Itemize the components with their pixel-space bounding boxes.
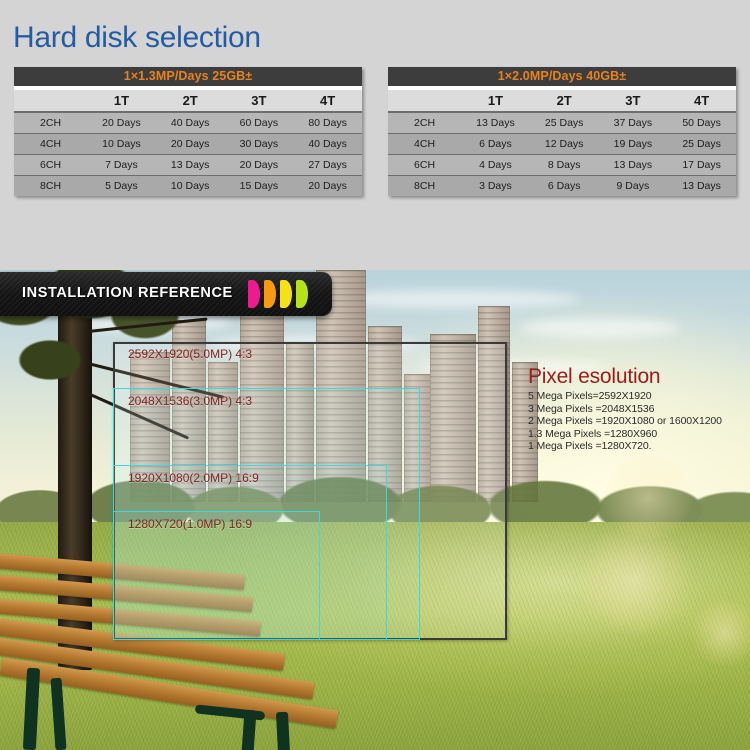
- chevron-icon: [280, 280, 292, 308]
- cell-3t: 15 Days: [225, 175, 294, 196]
- cell-3t: 37 Days: [599, 112, 668, 133]
- column-header-3t: 3T: [225, 90, 294, 112]
- frame-label-1mp: 1280X720(1.0MP) 16:9: [128, 517, 252, 531]
- table-corner-cell: [388, 90, 461, 112]
- cell-1t: 20 Days: [87, 112, 156, 133]
- frame-label-2mp: 1920X1080(2.0MP) 16:9: [128, 471, 259, 485]
- table-caption: 1×2.0MP/Days 40GB±: [388, 67, 736, 86]
- row-channel-label: 2CH: [14, 112, 87, 133]
- cell-3t: 60 Days: [225, 112, 294, 133]
- table-row: 4CH 6 Days 12 Days 19 Days 25 Days: [388, 133, 736, 154]
- cell-4t: 50 Days: [667, 112, 736, 133]
- column-header-1t: 1T: [461, 90, 530, 112]
- disk-capacity-table-1.3mp: 1×1.3MP/Days 25GB± 1T 2T 3T 4T 2CH 20 Da…: [14, 67, 362, 196]
- table-row: 6CH 7 Days 13 Days 20 Days 27 Days: [14, 154, 362, 175]
- cell-2t: 25 Days: [530, 112, 599, 133]
- installation-reference-photo: 2592X1920(5.0MP) 4:3 2048X1536(3.0MP) 4:…: [0, 270, 750, 750]
- chevron-icon: [264, 280, 276, 308]
- frame-label-5mp: 2592X1920(5.0MP) 4:3: [128, 347, 252, 361]
- table-row: 6CH 4 Days 8 Days 13 Days 17 Days: [388, 154, 736, 175]
- resolution-frames-overlay: 2592X1920(5.0MP) 4:3 2048X1536(3.0MP) 4:…: [0, 270, 750, 750]
- row-channel-label: 8CH: [388, 175, 461, 196]
- column-header-4t: 4T: [293, 90, 362, 112]
- table-caption-row: 1×2.0MP/Days 40GB±: [388, 67, 736, 86]
- table-row: 2CH 20 Days 40 Days 60 Days 80 Days: [14, 112, 362, 133]
- table-caption: 1×1.3MP/Days 25GB±: [14, 67, 362, 86]
- cell-4t: 27 Days: [293, 154, 362, 175]
- cell-4t: 17 Days: [667, 154, 736, 175]
- row-channel-label: 2CH: [388, 112, 461, 133]
- column-header-2t: 2T: [530, 90, 599, 112]
- pixel-resolution-line: 5 Mega Pixels=2592X1920: [528, 390, 743, 403]
- row-channel-label: 8CH: [14, 175, 87, 196]
- column-header-3t: 3T: [599, 90, 668, 112]
- cell-2t: 13 Days: [156, 154, 225, 175]
- cell-2t: 40 Days: [156, 112, 225, 133]
- cell-2t: 12 Days: [530, 133, 599, 154]
- cell-3t: 9 Days: [599, 175, 668, 196]
- frame-label-3mp: 2048X1536(3.0MP) 4:3: [128, 394, 252, 408]
- table-row: 2CH 13 Days 25 Days 37 Days 50 Days: [388, 112, 736, 133]
- cell-1t: 5 Days: [87, 175, 156, 196]
- row-channel-label: 6CH: [14, 154, 87, 175]
- pixel-resolution-line: 1.3 Mega Pixels =1280X960: [528, 428, 743, 441]
- row-channel-label: 4CH: [388, 133, 461, 154]
- cell-1t: 7 Days: [87, 154, 156, 175]
- banner-label: INSTALLATION REFERENCE: [22, 285, 233, 301]
- cell-2t: 8 Days: [530, 154, 599, 175]
- cell-2t: 6 Days: [530, 175, 599, 196]
- cell-1t: 10 Days: [87, 133, 156, 154]
- installation-reference-banner: INSTALLATION REFERENCE: [0, 272, 332, 316]
- cell-1t: 3 Days: [461, 175, 530, 196]
- row-channel-label: 4CH: [14, 133, 87, 154]
- chevron-icon: [248, 280, 260, 308]
- cell-4t: 25 Days: [667, 133, 736, 154]
- cell-4t: 80 Days: [293, 112, 362, 133]
- table-row: 8CH 3 Days 6 Days 9 Days 13 Days: [388, 175, 736, 196]
- column-header-4t: 4T: [667, 90, 736, 112]
- table-caption-row: 1×1.3MP/Days 25GB±: [14, 67, 362, 86]
- cell-3t: 13 Days: [599, 154, 668, 175]
- table-row: 4CH 10 Days 20 Days 30 Days 40 Days: [14, 133, 362, 154]
- cell-4t: 20 Days: [293, 175, 362, 196]
- pixel-resolution-heading: Pixel esolution: [528, 365, 743, 389]
- table-row: 8CH 5 Days 10 Days 15 Days 20 Days: [14, 175, 362, 196]
- disk-capacity-table-2.0mp: 1×2.0MP/Days 40GB± 1T 2T 3T 4T 2CH 13 Da…: [388, 67, 736, 196]
- pixel-resolution-block: Pixel esolution 5 Mega Pixels=2592X1920 …: [528, 365, 743, 453]
- cell-4t: 13 Days: [667, 175, 736, 196]
- column-header-2t: 2T: [156, 90, 225, 112]
- column-header-1t: 1T: [87, 90, 156, 112]
- table-corner-cell: [14, 90, 87, 112]
- table-header-row: 1T 2T 3T 4T: [14, 90, 362, 112]
- cell-3t: 30 Days: [225, 133, 294, 154]
- cell-1t: 6 Days: [461, 133, 530, 154]
- hard-disk-selection-section: Hard disk selection 1×1.3MP/Days 25GB± 1…: [0, 0, 750, 270]
- cell-2t: 20 Days: [156, 133, 225, 154]
- cell-2t: 10 Days: [156, 175, 225, 196]
- pixel-resolution-line: 1 Mega Pixels =1280X720.: [528, 440, 743, 453]
- row-channel-label: 6CH: [388, 154, 461, 175]
- cell-1t: 4 Days: [461, 154, 530, 175]
- chevron-icon: [296, 280, 308, 308]
- page-title: Hard disk selection: [13, 21, 261, 55]
- cell-3t: 19 Days: [599, 133, 668, 154]
- cell-3t: 20 Days: [225, 154, 294, 175]
- pixel-resolution-line: 2 Mega Pixels =1920X1080 or 1600X1200: [528, 415, 743, 428]
- cell-4t: 40 Days: [293, 133, 362, 154]
- table-header-row: 1T 2T 3T 4T: [388, 90, 736, 112]
- pixel-resolution-line: 3 Mega Pixels =2048X1536: [528, 403, 743, 416]
- cell-1t: 13 Days: [461, 112, 530, 133]
